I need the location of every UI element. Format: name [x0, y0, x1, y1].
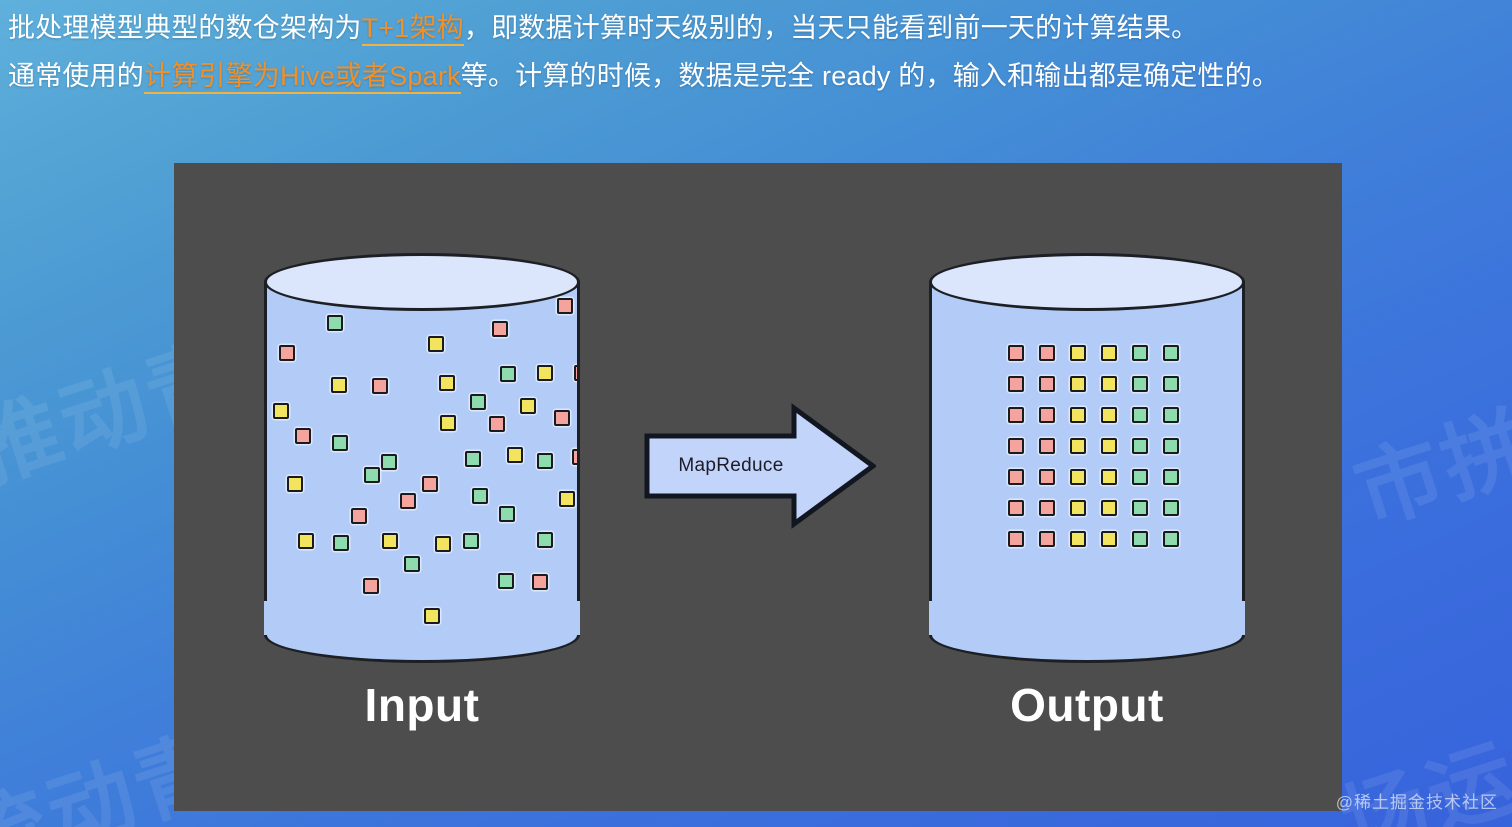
- data-square: [439, 375, 455, 391]
- data-square: [382, 533, 398, 549]
- data-square: [1163, 376, 1179, 392]
- data-square: [295, 428, 311, 444]
- headline-line-2: 通常使用的计算引擎为Hive或者Spark等。计算的时候，数据是完全 ready…: [8, 52, 1508, 100]
- data-square: [1163, 438, 1179, 454]
- data-square: [537, 532, 553, 548]
- data-square: [537, 453, 553, 469]
- data-square: [1039, 500, 1055, 516]
- data-square: [1101, 438, 1117, 454]
- output-grid-container: [932, 293, 1242, 651]
- cylinder-top: [929, 253, 1245, 311]
- data-square: [279, 345, 295, 361]
- data-square: [465, 451, 481, 467]
- data-square: [1070, 376, 1086, 392]
- slide-page: 推动青... 流动青... 市拼运... 场运... 批处理模型典型的数仓架构为…: [0, 0, 1512, 827]
- corner-watermark: @稀土掘金技术社区: [1336, 788, 1498, 813]
- data-square: [435, 536, 451, 552]
- data-square: [1163, 500, 1179, 516]
- data-square: [500, 366, 516, 382]
- data-square: [1101, 469, 1117, 485]
- data-square: [1039, 469, 1055, 485]
- data-square: [332, 435, 348, 451]
- data-square: [400, 493, 416, 509]
- data-square: [1132, 500, 1148, 516]
- data-square: [492, 321, 508, 337]
- data-square: [1101, 407, 1117, 423]
- data-square: [1132, 407, 1148, 423]
- data-square: [472, 488, 488, 504]
- data-square: [572, 449, 577, 465]
- data-square: [1070, 531, 1086, 547]
- headline-text: 批处理模型典型的数仓架构为T+1架构，即数据计算时天级别的，当天只能看到前一天的…: [8, 4, 1508, 100]
- data-square: [404, 556, 420, 572]
- input-squares-container: [267, 293, 577, 651]
- headline-line-1-prefix: 批处理模型典型的数仓架构为: [8, 13, 362, 43]
- data-square: [1101, 531, 1117, 547]
- data-square: [1132, 438, 1148, 454]
- data-square: [287, 476, 303, 492]
- data-square: [331, 377, 347, 393]
- data-square: [1039, 407, 1055, 423]
- data-square: [537, 365, 553, 381]
- headline-line-1: 批处理模型典型的数仓架构为T+1架构，即数据计算时天级别的，当天只能看到前一天的…: [8, 4, 1508, 52]
- data-square: [1008, 376, 1024, 392]
- data-square: [499, 506, 515, 522]
- data-square: [470, 394, 486, 410]
- arrow-label: MapReduce: [644, 403, 818, 529]
- data-square: [1039, 376, 1055, 392]
- data-square: [1039, 345, 1055, 361]
- data-square: [557, 298, 573, 314]
- data-square: [1163, 469, 1179, 485]
- data-square: [327, 315, 343, 331]
- data-square: [520, 398, 536, 414]
- diagram-panel: MapReduce Input Output: [174, 163, 1342, 811]
- data-square: [1070, 500, 1086, 516]
- data-square: [364, 467, 380, 483]
- data-square: [333, 535, 349, 551]
- mapreduce-arrow: MapReduce: [644, 403, 876, 529]
- data-square: [440, 415, 456, 431]
- data-square: [372, 378, 388, 394]
- data-square: [1008, 438, 1024, 454]
- data-square: [1163, 531, 1179, 547]
- data-square: [1008, 345, 1024, 361]
- data-square: [507, 447, 523, 463]
- data-square: [1008, 531, 1024, 547]
- headline-highlight-engines: 计算引擎为Hive或者Spark: [144, 61, 461, 94]
- data-square: [1132, 531, 1148, 547]
- data-square: [574, 365, 577, 381]
- data-square: [428, 336, 444, 352]
- data-square: [1070, 469, 1086, 485]
- data-square: [463, 533, 479, 549]
- input-cylinder: [264, 253, 580, 663]
- data-square: [273, 403, 289, 419]
- background-watermark: 市拼运...: [1337, 320, 1512, 548]
- input-caption: Input: [264, 678, 580, 732]
- data-square: [298, 533, 314, 549]
- data-square: [1070, 407, 1086, 423]
- data-square: [363, 578, 379, 594]
- data-square: [1101, 500, 1117, 516]
- data-square: [1132, 376, 1148, 392]
- data-square: [1163, 407, 1179, 423]
- data-square: [1070, 345, 1086, 361]
- data-square: [422, 476, 438, 492]
- data-square: [1008, 500, 1024, 516]
- cylinder-top: [264, 253, 580, 311]
- headline-line-2-suffix: 等。计算的时候，数据是完全 ready 的，输入和输出都是确定性的。: [461, 61, 1279, 91]
- data-square: [1008, 407, 1024, 423]
- data-square: [1039, 531, 1055, 547]
- data-square: [1101, 376, 1117, 392]
- headline-line-1-suffix: ，即数据计算时天级别的，当天只能看到前一天的计算结果。: [464, 13, 1198, 43]
- data-square: [1132, 345, 1148, 361]
- data-square: [1101, 345, 1117, 361]
- headline-highlight-t-plus-1: T+1架构: [362, 13, 464, 46]
- data-square: [1039, 438, 1055, 454]
- data-square: [1132, 469, 1148, 485]
- data-square: [532, 574, 548, 590]
- headline-line-2-prefix: 通常使用的: [8, 61, 144, 91]
- data-square: [1163, 345, 1179, 361]
- data-square: [351, 508, 367, 524]
- data-square: [381, 454, 397, 470]
- data-square: [1070, 438, 1086, 454]
- output-caption: Output: [929, 678, 1245, 732]
- output-cylinder: [929, 253, 1245, 663]
- data-square: [559, 491, 575, 507]
- data-square: [554, 410, 570, 426]
- data-square: [489, 416, 505, 432]
- data-square: [498, 573, 514, 589]
- data-square: [424, 608, 440, 624]
- data-square: [1008, 469, 1024, 485]
